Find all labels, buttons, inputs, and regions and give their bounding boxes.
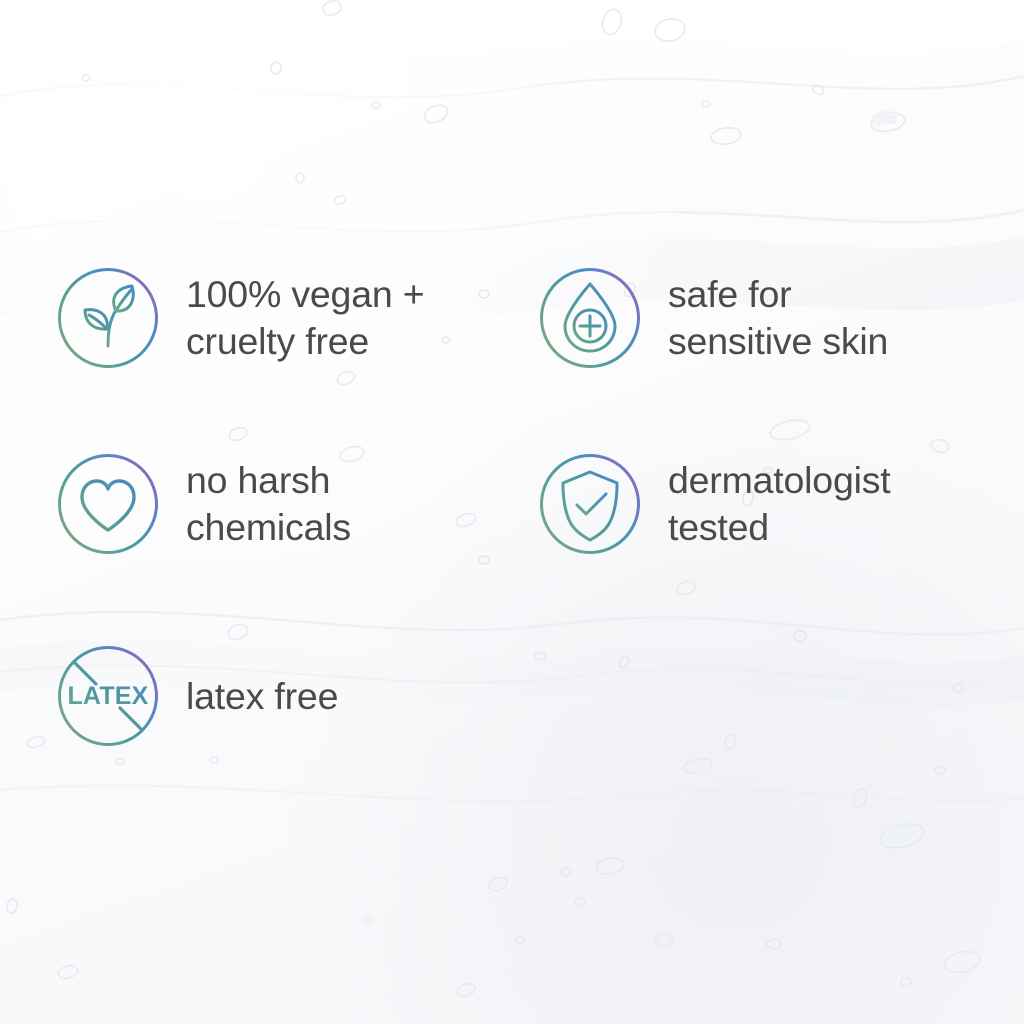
badge-label: latex free [186,673,338,720]
no-latex-icon: LATEX [56,644,160,748]
droplet-plus-icon [538,266,642,370]
badge-label: 100% vegan + cruelty free [186,271,424,365]
infographic-canvas: 100% vegan + cruelty free safe for sensi… [0,0,1024,1024]
badge-vegan-cruelty-free: 100% vegan + cruelty free [56,266,424,370]
badge-grid: 100% vegan + cruelty free safe for sensi… [0,0,1024,1024]
badge-dermatologist-tested: dermatologist tested [538,452,891,556]
leaf-icon [56,266,160,370]
latex-word: LATEX [67,682,148,710]
badge-latex-free: LATEX latex free [56,644,338,748]
badge-no-harsh-chemicals: no harsh chemicals [56,452,351,556]
heart-icon [56,452,160,556]
badge-label: safe for sensitive skin [668,271,888,365]
badge-label: no harsh chemicals [186,457,351,551]
badge-sensitive-skin: safe for sensitive skin [538,266,888,370]
shield-check-icon [538,452,642,556]
badge-label: dermatologist tested [668,457,891,551]
